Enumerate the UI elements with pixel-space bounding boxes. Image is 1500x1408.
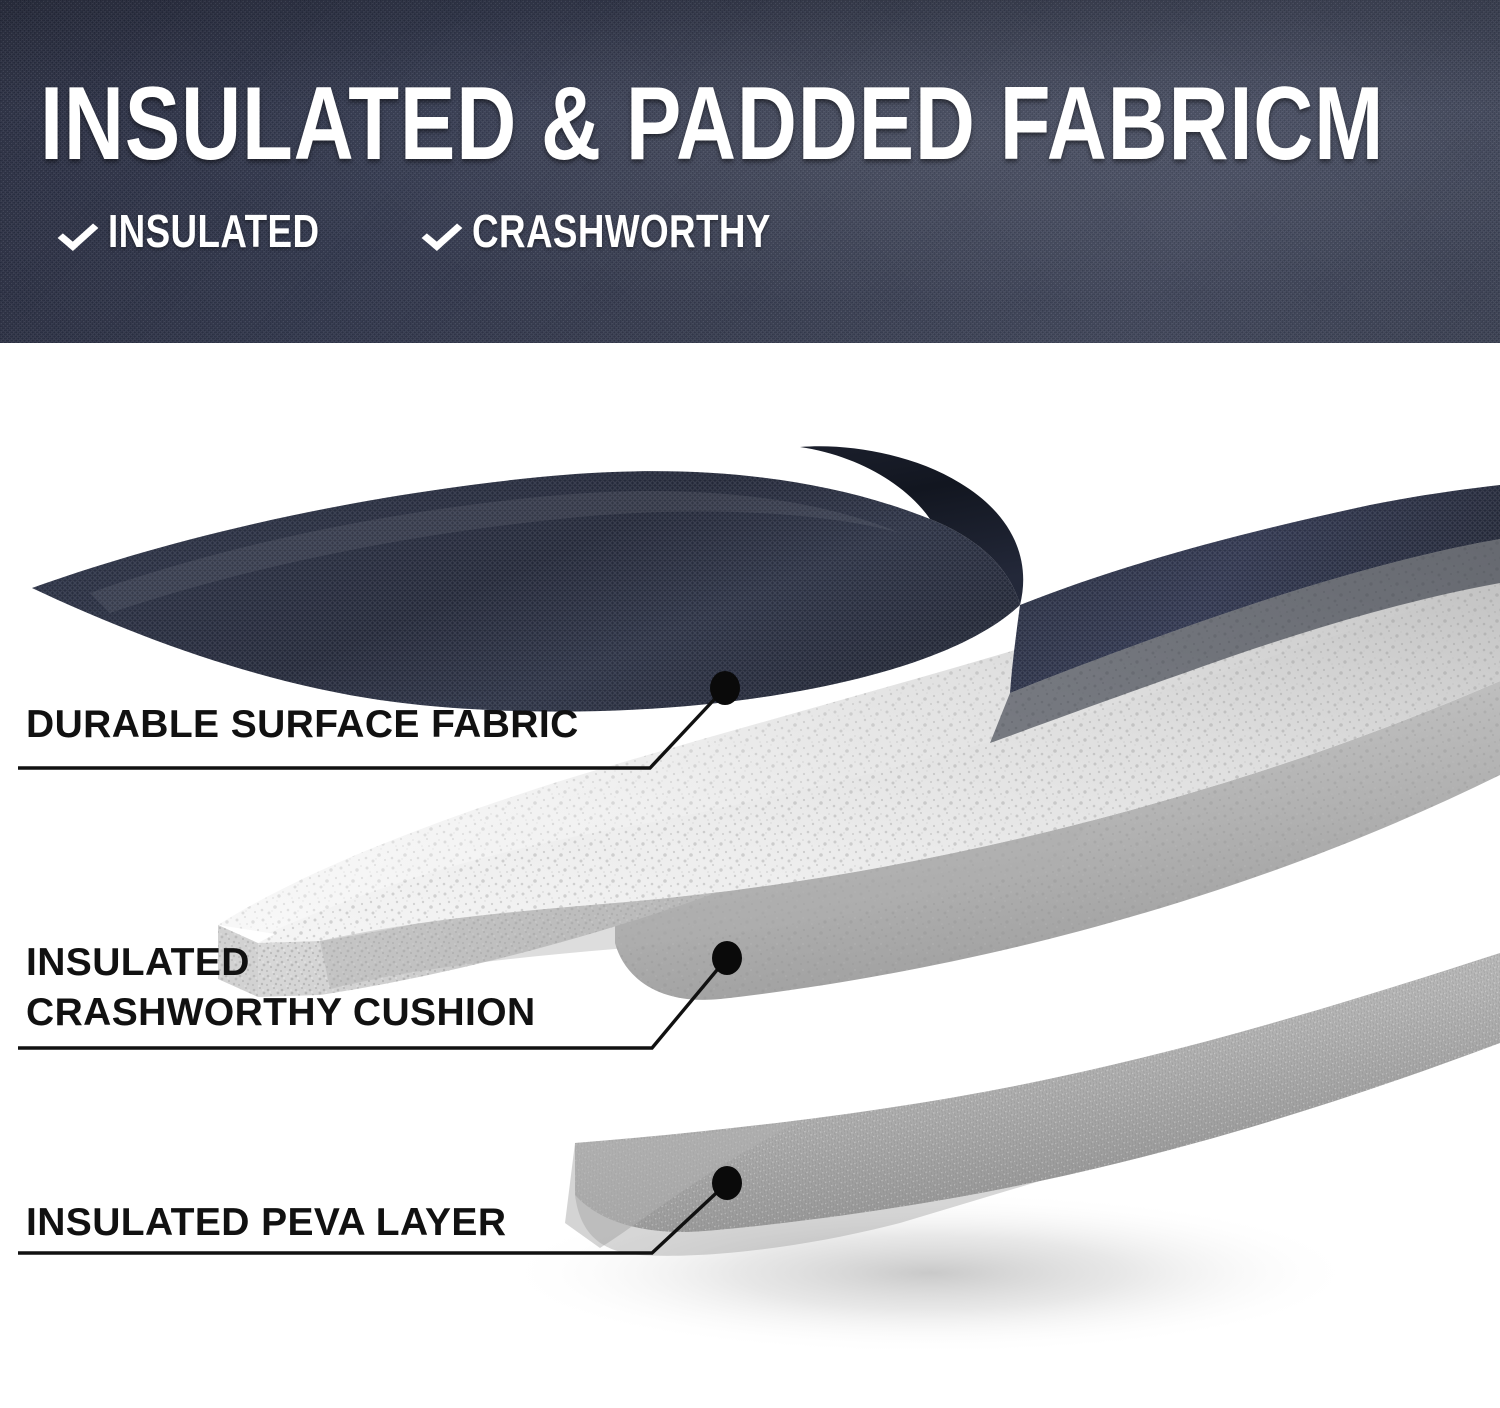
feature-item-crashworthy: CRASHWORTHY <box>428 208 845 254</box>
check-icon <box>428 211 462 251</box>
check-icon <box>64 211 98 251</box>
callout-line: CRASHWORTHY CUSHION <box>26 988 536 1038</box>
callout-dot-1 <box>710 671 740 705</box>
callout-dot-2 <box>712 941 742 975</box>
callout-dot-3 <box>712 1166 742 1200</box>
callout-insulated-crashworthy-cushion: INSULATED CRASHWORTHY CUSHION <box>26 938 536 1038</box>
callout-line: INSULATED PEVA LAYER <box>26 1198 506 1248</box>
callout-durable-surface-fabric: DURABLE SURFACE FABRIC <box>26 700 579 750</box>
feature-item-insulated: INSULATED <box>64 208 372 254</box>
layer-diagram-stage <box>0 343 1500 1408</box>
product-infographic: INSULATED & PADDED FABRICM INSULATED CRA… <box>0 0 1500 1408</box>
header-banner: INSULATED & PADDED FABRICM INSULATED CRA… <box>0 0 1500 343</box>
callout-line: INSULATED <box>26 938 536 988</box>
feature-label: INSULATED <box>108 208 319 254</box>
callout-line: DURABLE SURFACE FABRIC <box>26 700 579 750</box>
feature-list: INSULATED CRASHWORTHY <box>64 208 846 254</box>
layer-diagram <box>0 343 1500 1408</box>
callout-insulated-peva-layer: INSULATED PEVA LAYER <box>26 1198 506 1248</box>
feature-label: CRASHWORTHY <box>472 208 771 254</box>
page-title: INSULATED & PADDED FABRICM <box>40 72 1160 176</box>
